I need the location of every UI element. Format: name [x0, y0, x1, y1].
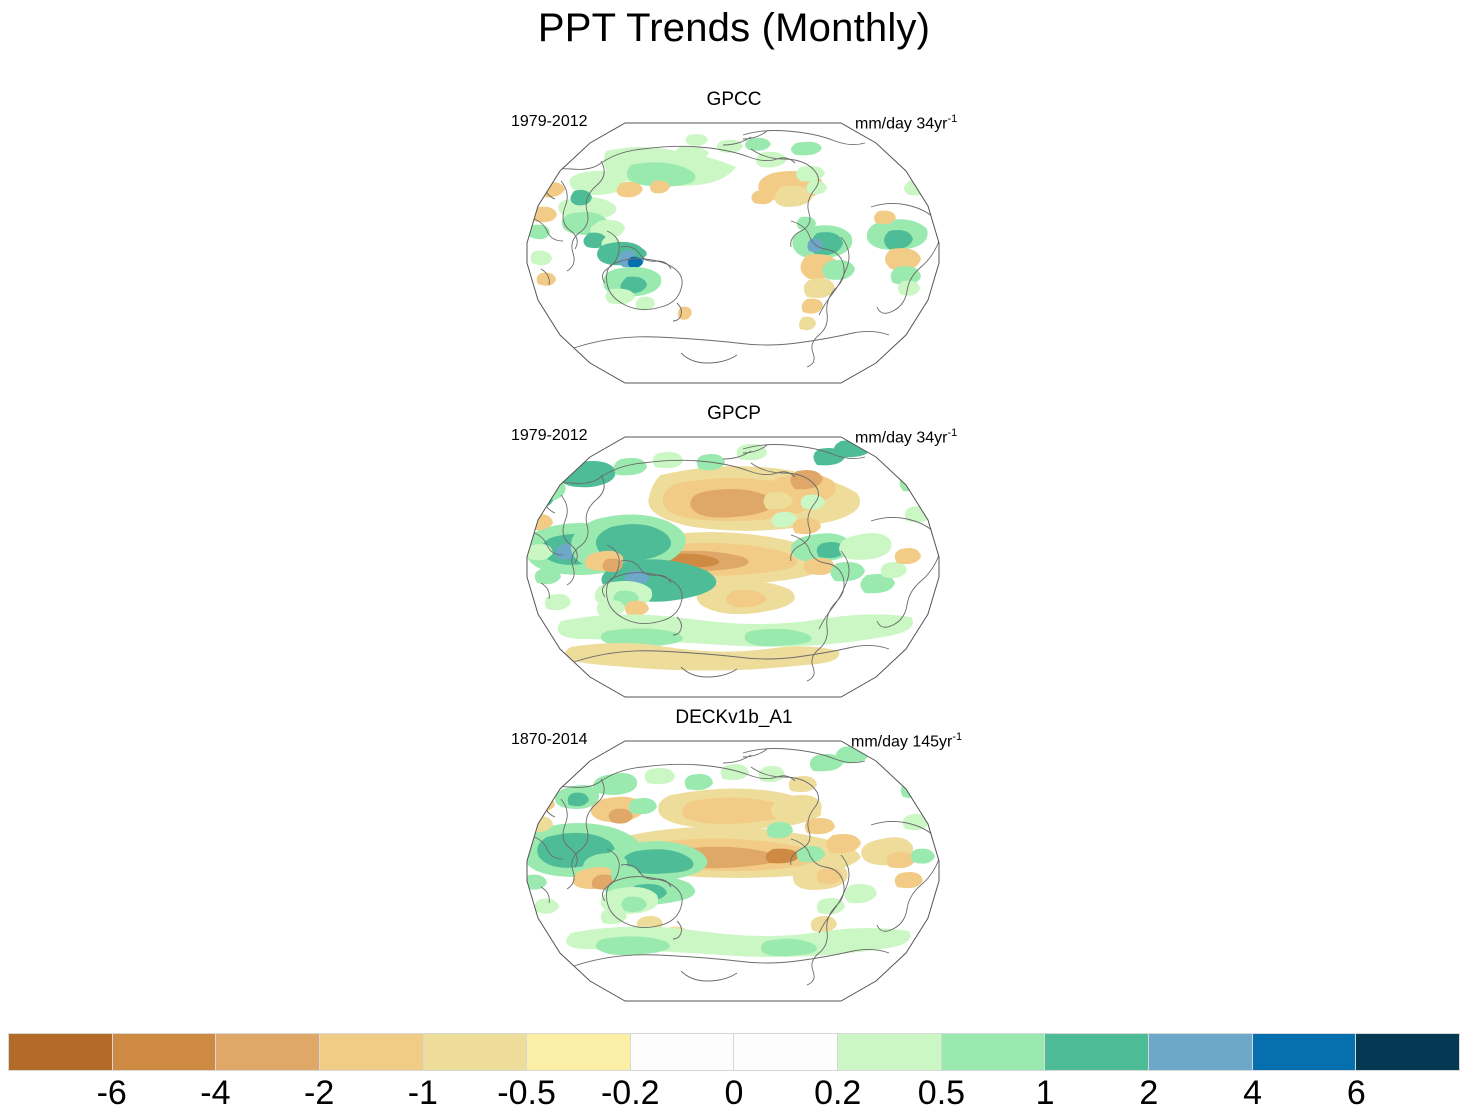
colorbar-tick-0: 0	[725, 1071, 744, 1115]
colorbar-tick-2: 2	[1139, 1071, 1158, 1115]
colorbar-cell-10	[1044, 1033, 1149, 1071]
colorbar-tick--0.2: -0.2	[601, 1071, 660, 1115]
colorbar-tick--6: -6	[97, 1071, 127, 1115]
colorbar-cell-8	[837, 1033, 942, 1071]
panel-title-gpcp: GPCP	[0, 403, 1468, 425]
colorbar-tick--2: -2	[304, 1071, 334, 1115]
colorbar-cell-0	[8, 1033, 113, 1071]
colorbar-tick-0.2: 0.2	[814, 1071, 861, 1115]
colorbar-tick-0.5: 0.5	[918, 1071, 965, 1115]
colorbar-tick--1: -1	[408, 1071, 438, 1115]
colorbar-tick-6: 6	[1347, 1071, 1366, 1115]
figure-title: PPT Trends (Monthly)	[0, 6, 1468, 51]
colorbar-cell-11	[1148, 1033, 1253, 1071]
colorbar-cell-9	[941, 1033, 1046, 1071]
colorbar-tick--4: -4	[200, 1071, 230, 1115]
map-deck	[511, 739, 955, 1003]
map-svg-deck	[511, 739, 955, 1003]
colorbar-cell-7	[733, 1033, 838, 1071]
colorbar-cell-6	[630, 1033, 735, 1071]
colorbar-cell-12	[1252, 1033, 1357, 1071]
colorbar-cell-2	[215, 1033, 320, 1071]
map-svg-gpcc	[511, 121, 955, 385]
colorbar-tick-labels: -6-4-2-1-0.5-0.200.20.51246	[8, 1071, 1460, 1115]
colorbar-cell-13	[1355, 1033, 1460, 1071]
colorbar-cell-1	[112, 1033, 217, 1071]
colorbar-tick-4: 4	[1243, 1071, 1262, 1115]
map-gpcp	[511, 435, 955, 699]
map-gpcc	[511, 121, 955, 385]
colorbar-tick--0.5: -0.5	[497, 1071, 556, 1115]
colorbar-cell-4	[423, 1033, 528, 1071]
map-svg-gpcp	[511, 435, 955, 699]
colorbar-cell-5	[526, 1033, 631, 1071]
panel-title-deck: DECKv1b_A1	[0, 707, 1468, 729]
colorbar-cell-3	[319, 1033, 424, 1071]
figure-root: PPT Trends (Monthly) GPCC 1979-2012 mm/d…	[0, 0, 1468, 1116]
panel-title-gpcc: GPCC	[0, 89, 1468, 111]
colorbar-tick-1: 1	[1036, 1071, 1055, 1115]
colorbar[interactable]	[8, 1033, 1460, 1071]
